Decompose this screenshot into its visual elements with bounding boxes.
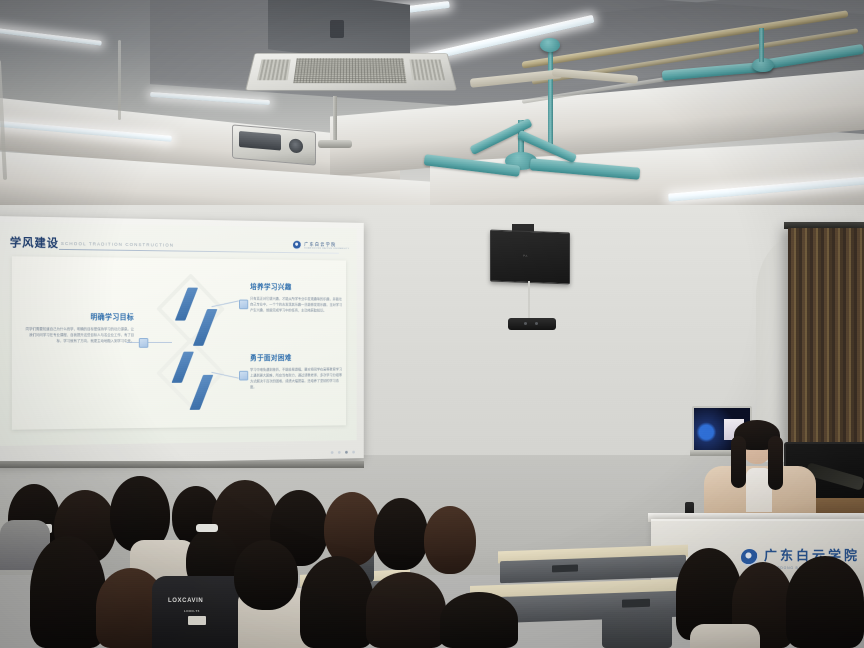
pagination-dot-1[interactable] — [331, 451, 334, 454]
chair-2 — [602, 612, 672, 648]
ac-vent-right — [409, 60, 445, 81]
audience-head-16 — [440, 592, 518, 648]
wall-speaker: PA — [490, 230, 570, 285]
window-curtain — [788, 228, 864, 460]
pagination-dot-2[interactable] — [338, 451, 341, 454]
screen-bottom-rail — [0, 461, 364, 468]
ac-filter-mesh — [293, 58, 406, 83]
fan-hub-1 — [540, 38, 560, 52]
audience-head-8 — [374, 498, 428, 570]
projector-mount-pole — [333, 96, 337, 144]
desk-handle-1 — [552, 565, 578, 573]
slide-content-card: 明确学习目标 同学们需要知道自己为什么而学，明确的目标是保持学习的动力源泉。让我… — [12, 256, 346, 430]
pagination-dot-4[interactable] — [352, 451, 355, 454]
slide-section-top-right: 培养学习兴趣 只有真正对它感兴趣，才能从所学专业中发现趣味的乐趣，并能在自己专业… — [250, 282, 344, 313]
fan-downrod-1 — [548, 45, 553, 150]
projector-lens — [289, 138, 303, 153]
audience-head-19 — [786, 556, 864, 648]
desk-handle-2 — [622, 599, 650, 608]
presenter-hair-right — [768, 436, 783, 490]
air-conditioner-unit — [245, 53, 457, 91]
section-heading-3: 勇于面对困难 — [250, 353, 344, 363]
jacket-brand-text: LOXCAVIN — [168, 598, 203, 604]
university-seal-icon — [293, 241, 301, 250]
camera-lens-icon-2 — [535, 322, 538, 325]
section-icon-3 — [239, 371, 248, 381]
audience-head-10 — [30, 536, 106, 648]
section-icon-1 — [139, 338, 148, 348]
ac-vent-left — [257, 60, 291, 81]
projector-panel — [239, 131, 281, 151]
ceiling-hanger-1 — [118, 40, 121, 120]
audience-head-9 — [424, 506, 476, 574]
lecture-hall-photo: 学风建设 SCHOOL TRADITION CONSTRUCTION 广东白云学… — [0, 0, 864, 648]
wall-camera-bar — [508, 318, 556, 330]
speaker-brand-label: PA — [523, 254, 528, 258]
section-heading-1: 明确学习目标 — [26, 312, 134, 322]
jacket-sub-text: LOXO-75 — [184, 609, 200, 613]
section-body-1: 同学们需要知道自己为什么而学，明确的目标是保持学习的动力源泉。让我们问问学习在专… — [26, 326, 134, 344]
slide-university-logo: 广东白云学院 GUANGDONG BAIYUN UNIVERSITY — [293, 241, 349, 250]
audience-body-4 — [690, 624, 760, 648]
speaker-cable — [528, 281, 530, 321]
slide-pagination[interactable] — [331, 451, 355, 454]
section-heading-2: 培养学习兴趣 — [250, 282, 344, 292]
pagination-dot-3[interactable] — [345, 451, 348, 454]
jacket-patch — [188, 616, 206, 625]
slide-section-bottom-right: 勇于面对困难 学习中难免遇到挫折，不能轻易退缩，要对将同学在高等教育学习上遇到更… — [250, 353, 344, 390]
projection-screen: 学风建设 SCHOOL TRADITION CONSTRUCTION 广东白云学… — [0, 216, 364, 465]
audience-head-14 — [300, 556, 374, 648]
slide-subtitle-en: SCHOOL TRADITION CONSTRUCTION — [61, 241, 174, 248]
section-icon-2 — [239, 300, 248, 310]
presentation-slide: 学风建设 SCHOOL TRADITION CONSTRUCTION 广东白云学… — [0, 222, 357, 446]
fan-downrod-3 — [759, 28, 764, 62]
slide-title-rule — [59, 249, 339, 254]
slide-logo-en: GUANGDONG BAIYUN UNIVERSITY — [304, 247, 349, 250]
projector-mount-plate — [318, 140, 352, 148]
projector — [232, 124, 316, 165]
slide-section-left: 明确学习目标 同学们需要知道自己为什么而学，明确的目标是保持学习的动力源泉。让我… — [26, 312, 134, 344]
audience-head-13 — [234, 540, 298, 610]
section-body-2: 只有真正对它感兴趣，才能从所学专业中发现趣味的乐趣，并能在自己专业中，一个个的去… — [250, 296, 344, 314]
slide-title: 学风建设 — [10, 234, 59, 251]
section-body-3: 学习中难免遇到挫折，不能轻易退缩，要对将同学在高等教育学习上遇到更大困难，所应当… — [250, 367, 344, 391]
hair-clip-2 — [196, 524, 218, 532]
audience-head-15 — [366, 572, 446, 648]
presenter-hair-left — [731, 436, 746, 488]
camera-lens-icon — [524, 322, 527, 325]
audience-head-7 — [324, 492, 380, 566]
ac-control-box — [330, 20, 344, 38]
